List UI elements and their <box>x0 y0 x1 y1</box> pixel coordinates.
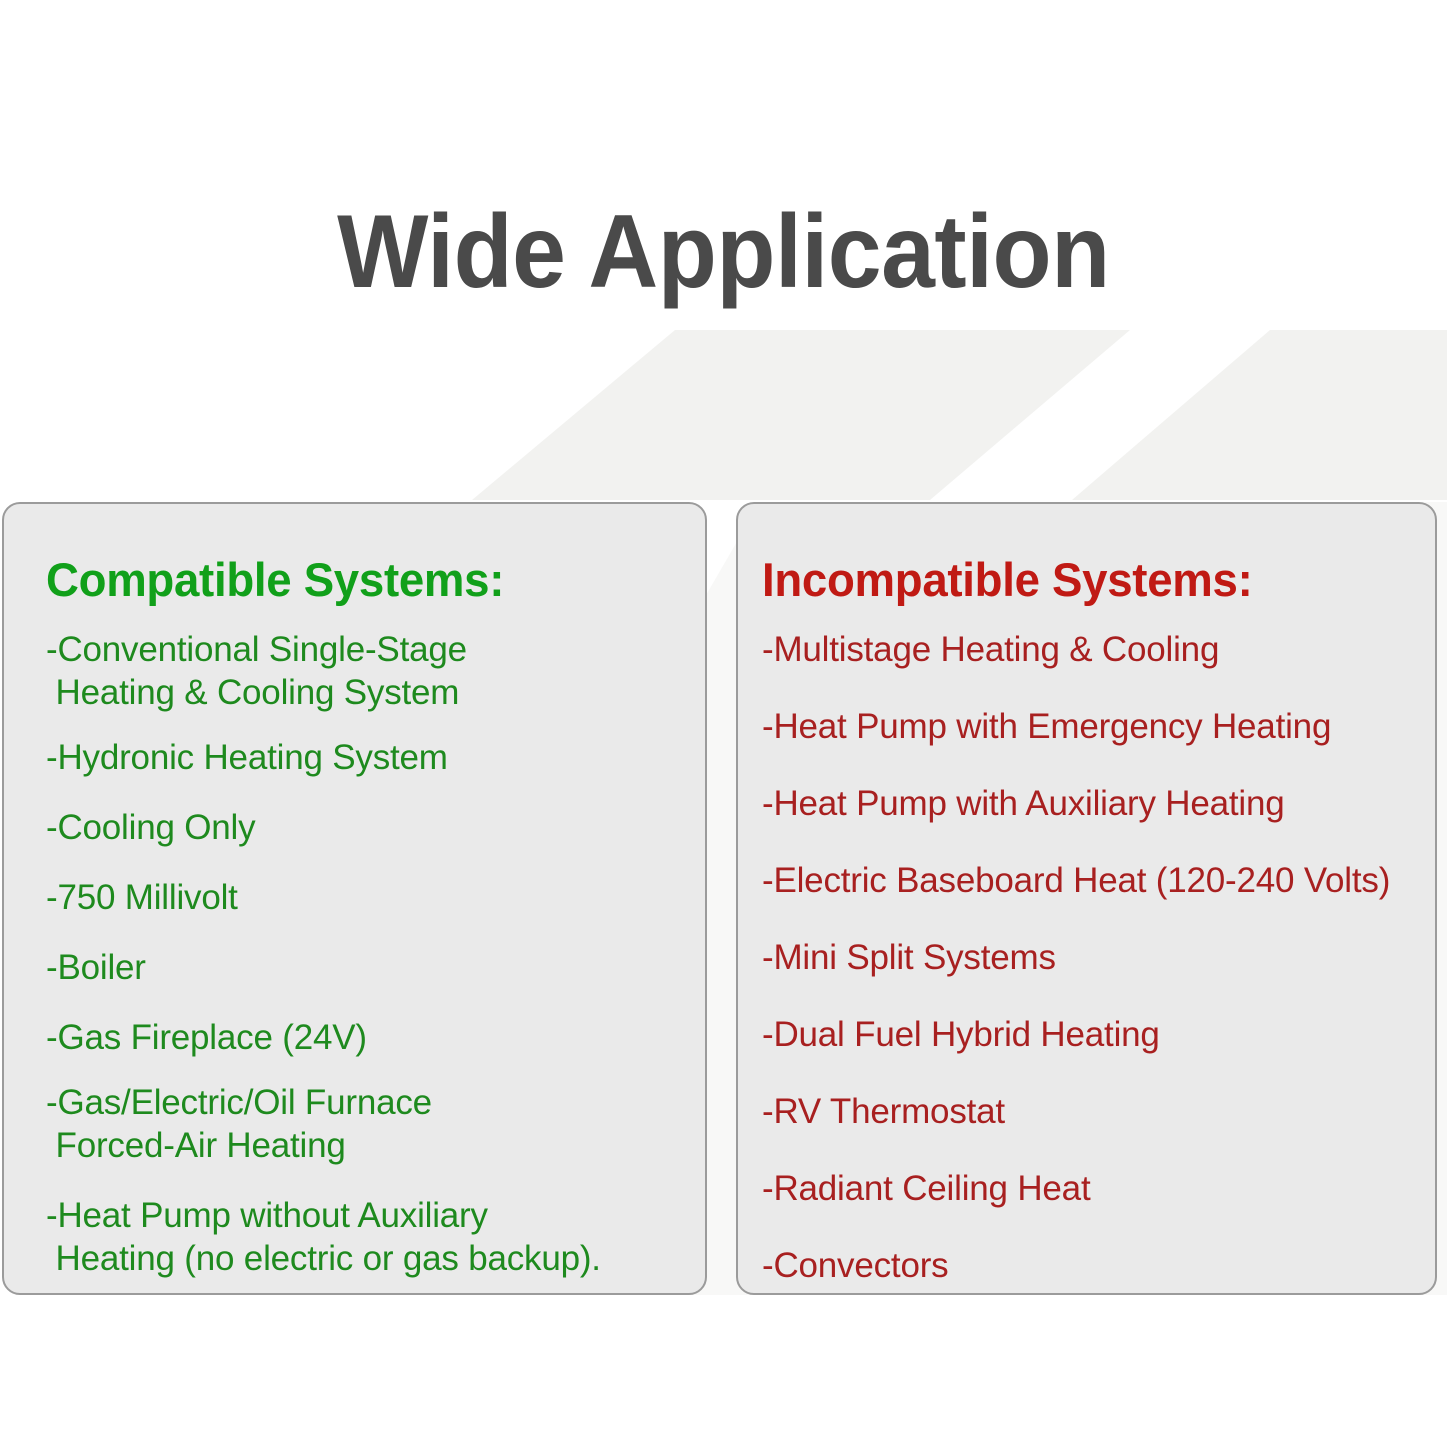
list-item: -RV Thermostat <box>762 1090 1429 1133</box>
list-item: -Hydronic Heating System <box>46 736 695 779</box>
list-item: -Gas Fireplace (24V) <box>46 1016 695 1059</box>
list-item: -Boiler <box>46 946 695 989</box>
list-item: -Dual Fuel Hybrid Heating <box>762 1013 1429 1056</box>
list-item: -Radiant Ceiling Heat <box>762 1167 1429 1210</box>
compatible-systems-list: -Conventional Single-Stage Heating & Coo… <box>46 628 695 1295</box>
list-item: -Gas/Electric/Oil Furnace Forced-Air Hea… <box>46 1081 695 1167</box>
compatible-card-inner: Compatible Systems: -Conventional Single… <box>4 504 705 1293</box>
list-item: -Conventional Single-Stage Heating & Coo… <box>46 628 695 714</box>
list-item: -Multistage Heating & Cooling <box>762 628 1429 671</box>
watermark-band-2 <box>1072 330 1447 500</box>
incompatible-card-inner: Incompatible Systems: -Multistage Heatin… <box>738 504 1435 1293</box>
compatible-systems-heading: Compatible Systems: <box>46 552 504 607</box>
list-item: -750 Millivolt <box>46 876 695 919</box>
list-item: -Heat Pump with Emergency Heating <box>762 705 1429 748</box>
list-item: -Convectors <box>762 1244 1429 1287</box>
page-title: Wide Application <box>51 198 1397 307</box>
list-item: -Heat Pump without Auxiliary Heating (no… <box>46 1194 695 1280</box>
compatible-systems-card: Compatible Systems: -Conventional Single… <box>2 502 707 1295</box>
incompatible-systems-heading: Incompatible Systems: <box>762 552 1252 607</box>
incompatible-systems-card: Incompatible Systems: -Multistage Heatin… <box>736 502 1437 1295</box>
list-item: -Heat Pump with Auxiliary Heating <box>762 782 1429 825</box>
list-item: -Mini Split Systems <box>762 936 1429 979</box>
list-item: -Cooling Only <box>46 806 695 849</box>
incompatible-systems-list: -Multistage Heating & Cooling -Heat Pump… <box>762 628 1429 1295</box>
watermark-band-1 <box>472 330 1130 500</box>
list-item: -Electric Baseboard Heat (120-240 Volts) <box>762 859 1429 902</box>
